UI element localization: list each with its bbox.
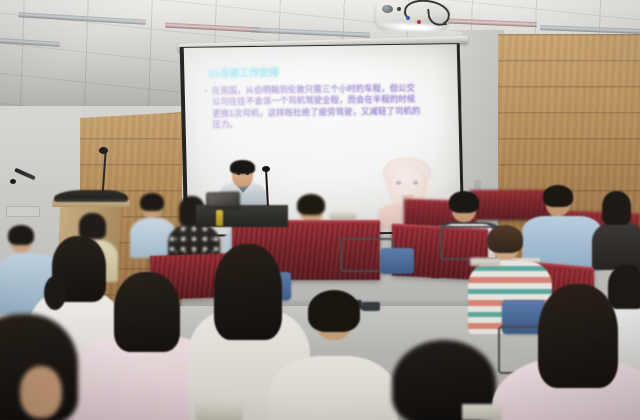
baby-photo-eye bbox=[413, 181, 418, 185]
notebook bbox=[330, 212, 356, 218]
person-hair bbox=[214, 244, 282, 340]
notebook bbox=[196, 400, 242, 420]
presenter-eye bbox=[246, 173, 249, 175]
projector-indicator-red bbox=[417, 20, 421, 24]
person-hair bbox=[308, 290, 360, 332]
person-hair bbox=[543, 185, 573, 207]
baby-photo-eye bbox=[396, 181, 401, 185]
seminar-room-photo: 01改善工作安排 ▪ 在英国，从伯明翰到伦敦只需三个小时的车程，但公交公司往往不… bbox=[0, 0, 640, 420]
laptop-icon bbox=[206, 191, 240, 209]
person-hair bbox=[114, 272, 180, 352]
slide-title: 01改善工作安排 bbox=[208, 65, 279, 80]
presenter-microphone-icon bbox=[262, 166, 270, 172]
bullet-marker-icon: ▪ bbox=[205, 86, 209, 132]
person-head bbox=[20, 366, 62, 418]
person-hair bbox=[608, 265, 640, 309]
presenter-eye bbox=[237, 173, 240, 175]
projector-mount-bolt bbox=[397, 7, 401, 11]
projector-indicator-blue bbox=[406, 16, 410, 20]
person-ponytail bbox=[44, 276, 66, 310]
person-hair bbox=[602, 191, 631, 225]
person-hair bbox=[8, 225, 34, 245]
water-bottle bbox=[216, 210, 223, 226]
person-torso bbox=[592, 222, 640, 270]
baby-photo-hair bbox=[382, 156, 431, 187]
person-hair bbox=[538, 284, 618, 388]
slide-body-text: 在英国，从伯明翰到伦敦只需三个小时的车程，但公交公司往往不会派一个司机驾驶全程，… bbox=[211, 83, 423, 132]
laptop-screen bbox=[208, 194, 238, 207]
person-hair bbox=[140, 193, 164, 211]
person-hair bbox=[487, 225, 523, 253]
notebook bbox=[462, 404, 502, 420]
lectern-top-object bbox=[54, 190, 128, 202]
slide-bullet-row: ▪ 在英国，从伯明翰到伦敦只需三个小时的车程，但公交公司往往不会派一个司机驾驶全… bbox=[205, 83, 424, 132]
chair-back bbox=[380, 248, 414, 274]
shoe bbox=[360, 302, 380, 311]
notebook bbox=[470, 258, 500, 266]
presenter-hair bbox=[230, 160, 255, 174]
wall-outlet-plate bbox=[6, 206, 40, 217]
person-hair bbox=[297, 194, 325, 215]
wall-microphone-head bbox=[10, 179, 16, 184]
person-hair bbox=[449, 191, 479, 213]
lectern-microphone-icon bbox=[99, 147, 108, 154]
person-torso bbox=[268, 356, 398, 420]
